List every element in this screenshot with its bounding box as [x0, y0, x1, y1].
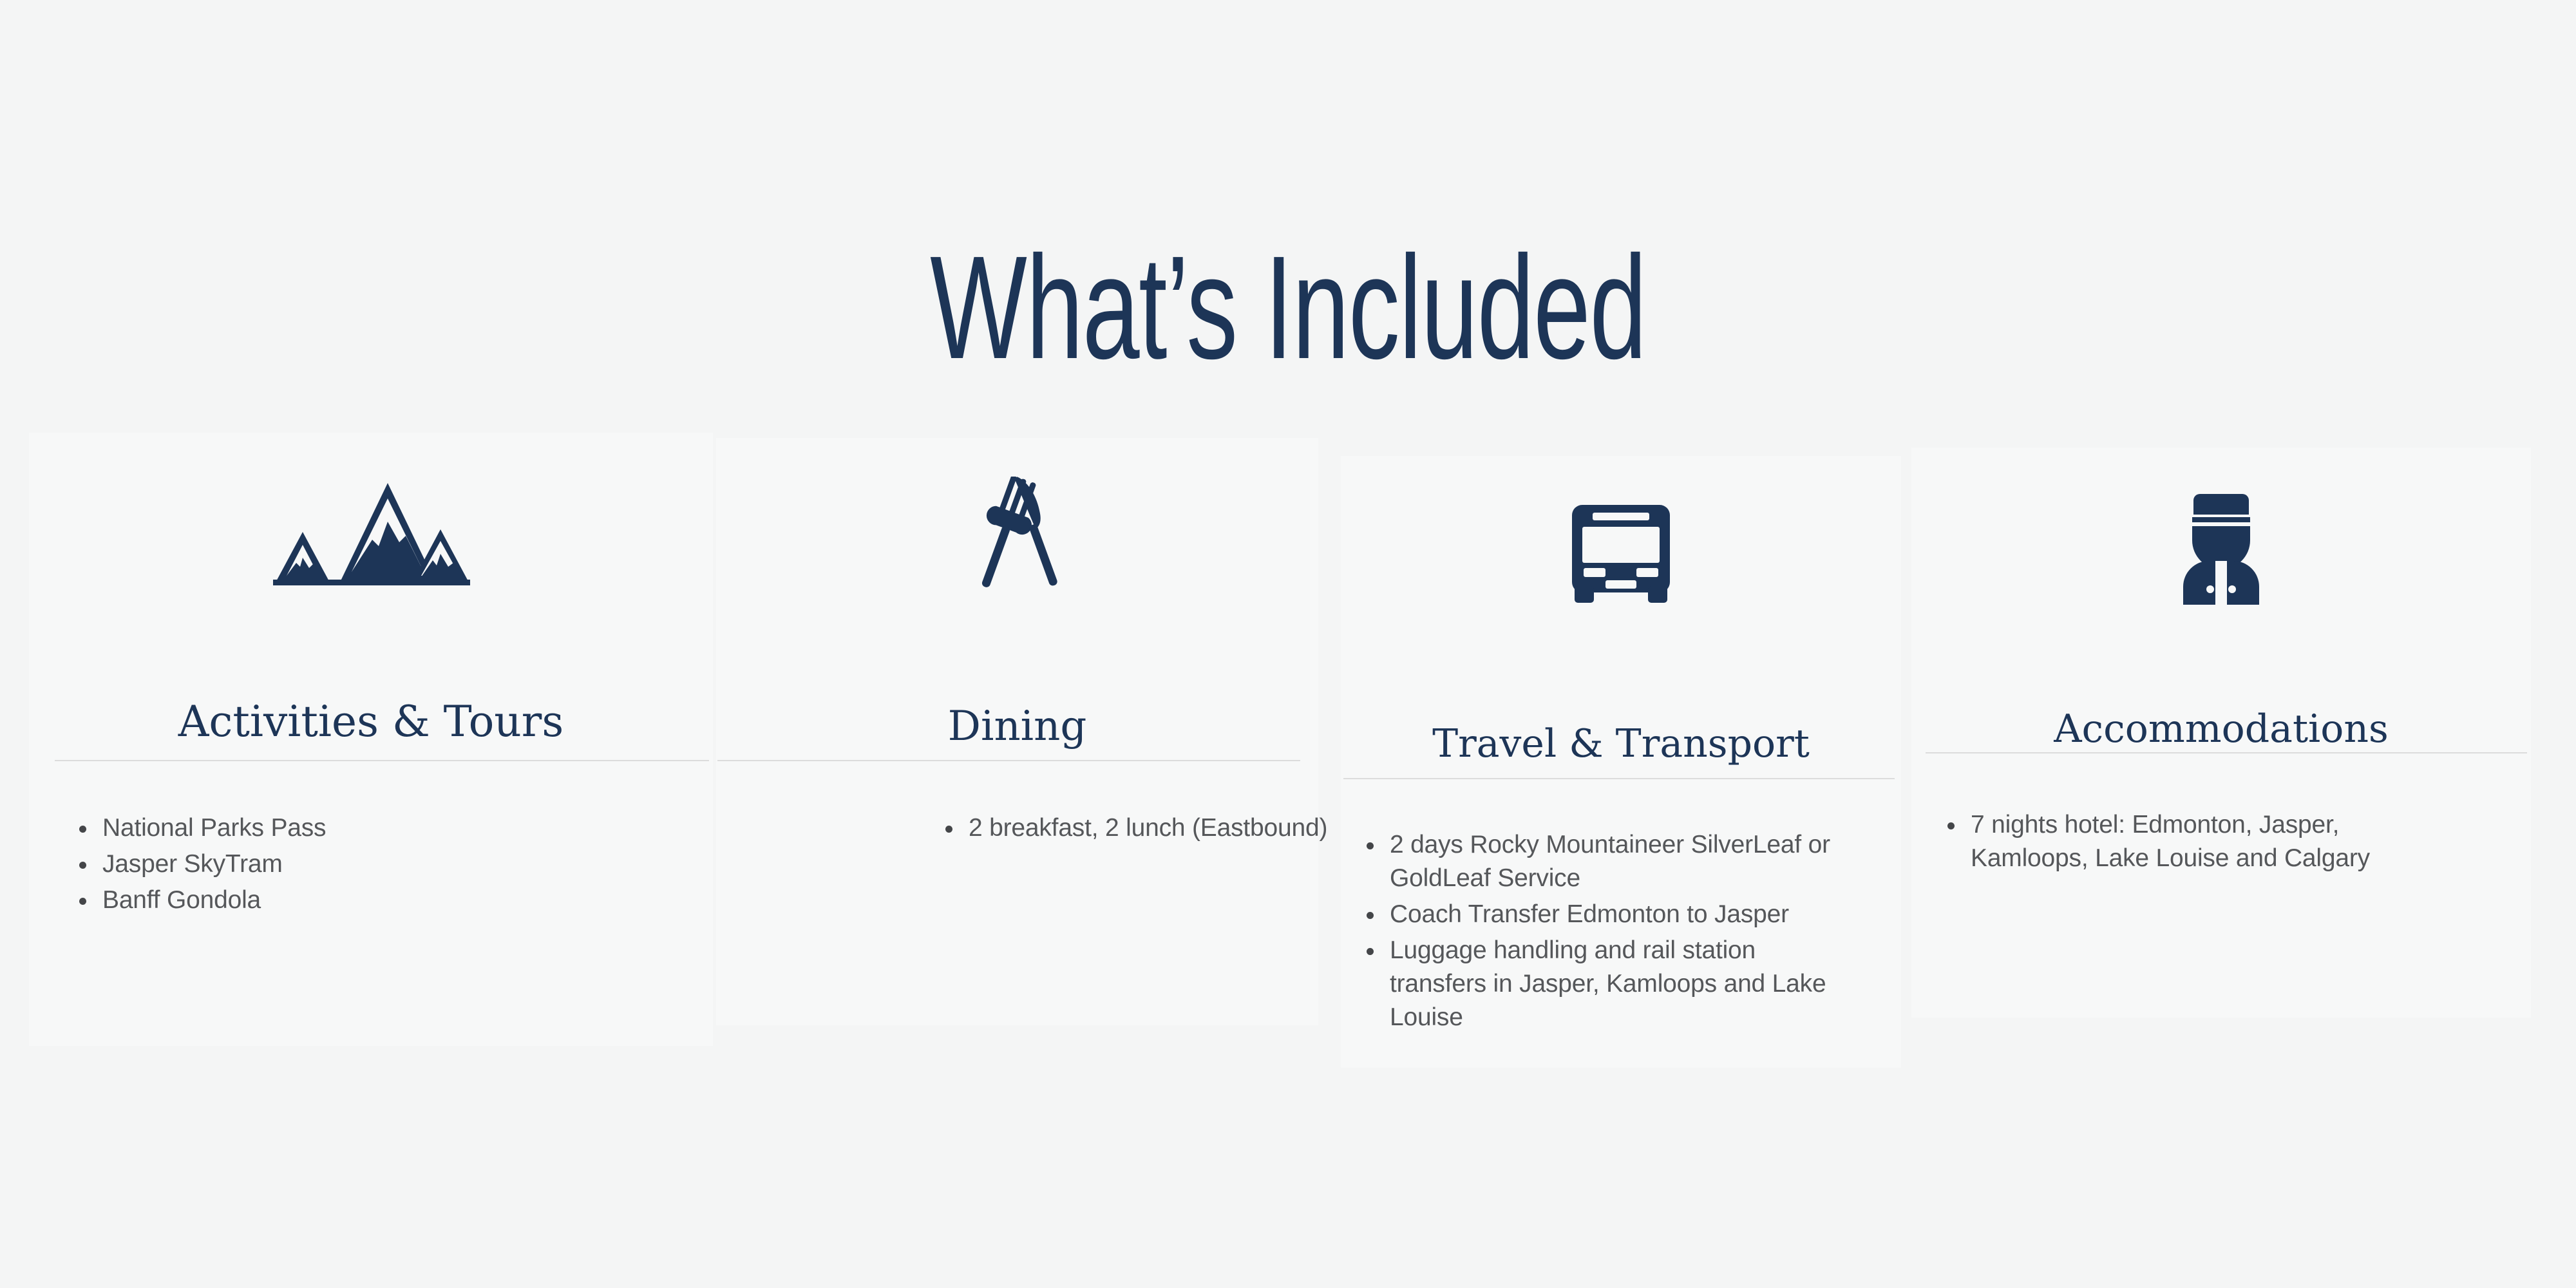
included-card-travel: Travel & Transport 2 days Rocky Mountain…: [1341, 456, 1901, 1068]
card-heading: Dining: [716, 703, 1318, 750]
list-item: Coach Transfer Edmonton to Jasper: [1343, 898, 1852, 931]
included-card-activities: Activities & Tours National Parks Pass J…: [29, 433, 713, 1046]
list-item: National Parks Pass: [56, 811, 571, 845]
card-divider: [1343, 778, 1895, 779]
card-heading: Activities & Tours: [29, 697, 713, 746]
card-item-list: 7 nights hotel: Edmonton, Jasper, Kamloo…: [1924, 808, 2459, 878]
included-card-dining: Dining 2 breakfast, 2 lunch (Eastbound): [716, 438, 1318, 1025]
included-card-accommodations: Accommodations 7 nights hotel: Edmonton,…: [1911, 448, 2531, 1018]
list-item: Luggage handling and rail station transf…: [1343, 934, 1852, 1034]
page-title: What’s Included: [386, 231, 2190, 385]
list-item: 7 nights hotel: Edmonton, Jasper, Kamloo…: [1924, 808, 2459, 875]
card-heading: Travel & Transport: [1341, 721, 1901, 766]
card-heading: Accommodations: [1911, 706, 2531, 752]
list-item: Banff Gondola: [56, 884, 571, 917]
included-card-grid: Activities & Tours National Parks Pass J…: [0, 419, 2576, 1127]
mountains-icon: [29, 470, 713, 589]
fork-and-knife-icon: [716, 477, 1318, 602]
card-item-list: 2 days Rocky Mountaineer SilverLeaf or G…: [1343, 828, 1852, 1037]
whats-included-section: What’s Included Activities & Tours: [0, 0, 2576, 1288]
card-divider: [717, 760, 1300, 761]
card-divider: [1926, 752, 2527, 753]
list-item: Jasper SkyTram: [56, 848, 571, 881]
card-item-list: National Parks Pass Jasper SkyTram Banff…: [56, 811, 571, 920]
bus-icon: [1341, 496, 1901, 615]
list-item: 2 days Rocky Mountaineer SilverLeaf or G…: [1343, 828, 1852, 895]
bellhop-icon: [1911, 485, 2531, 611]
card-divider: [55, 760, 709, 761]
